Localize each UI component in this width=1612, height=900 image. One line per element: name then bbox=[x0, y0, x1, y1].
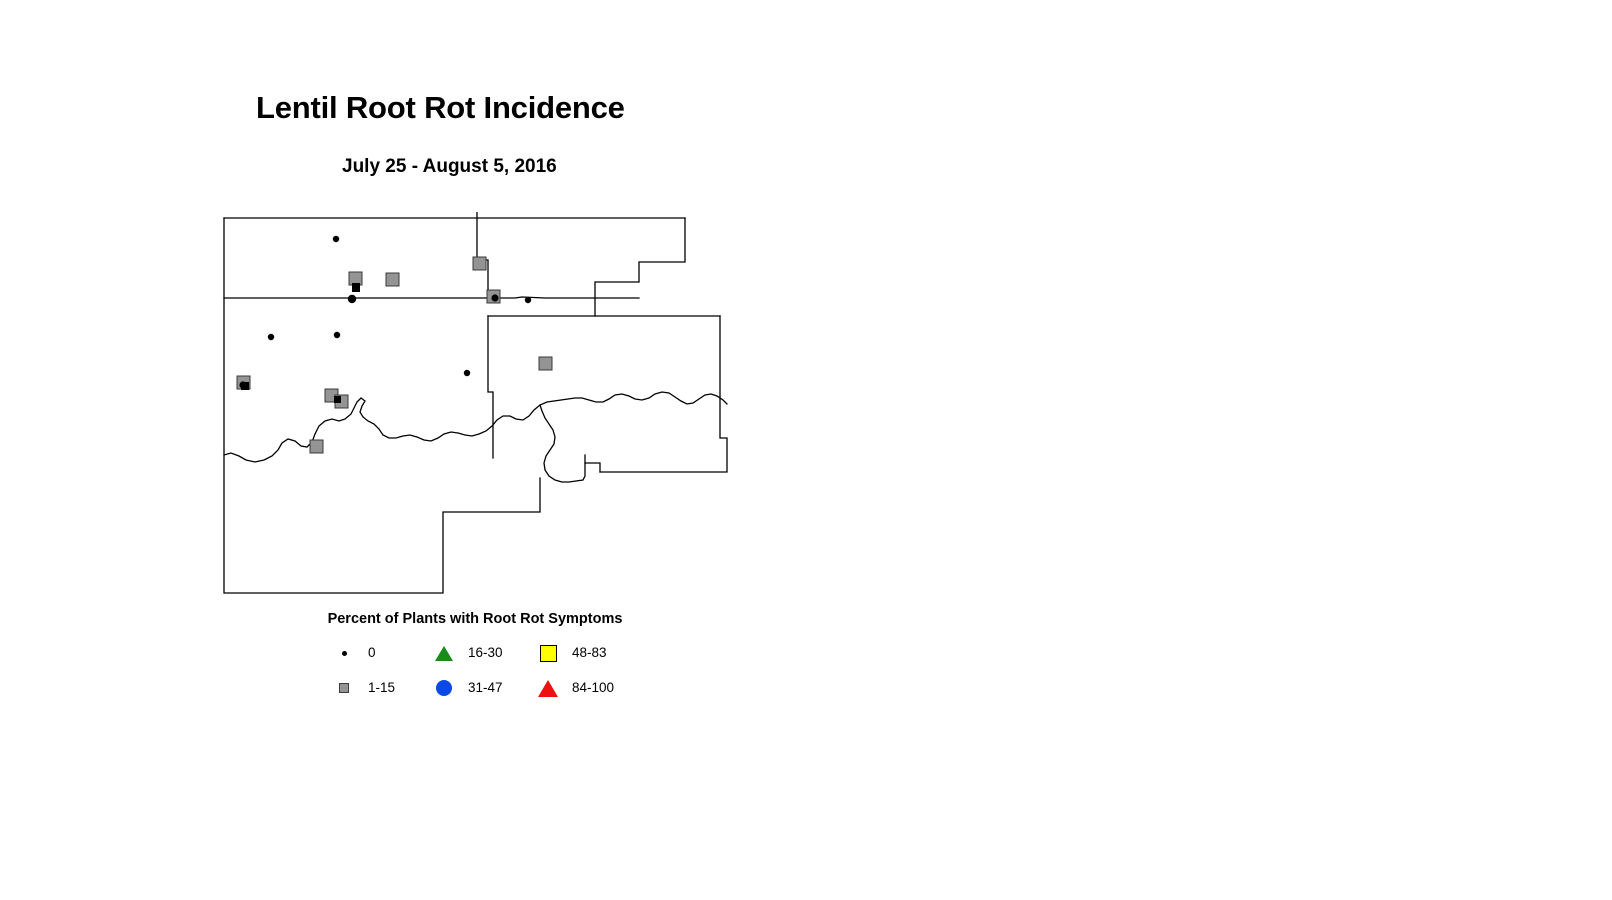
square-gray-icon bbox=[333, 677, 355, 699]
map-marker bbox=[268, 334, 274, 340]
map-marker bbox=[386, 273, 399, 286]
map-marker bbox=[539, 357, 552, 370]
dot-black-icon bbox=[333, 642, 355, 664]
map-marker bbox=[241, 382, 249, 390]
legend-item-label: 1-15 bbox=[368, 681, 395, 695]
marker-group-overlap bbox=[241, 283, 360, 403]
north-border bbox=[224, 212, 685, 218]
legend-item-0: 0 bbox=[333, 642, 376, 664]
square-yellow-icon bbox=[537, 642, 559, 664]
map-marker bbox=[334, 332, 340, 338]
legend-item-label: 16-30 bbox=[468, 646, 503, 660]
triangle-red-icon bbox=[537, 677, 559, 699]
map-marker bbox=[348, 295, 356, 303]
map-legend: Percent of Plants with Root Rot Symptoms… bbox=[215, 612, 735, 707]
map-canvas bbox=[215, 210, 735, 610]
legend-item-16-30: 16-30 bbox=[433, 642, 503, 664]
legend-title: Percent of Plants with Root Rot Symptoms bbox=[215, 612, 735, 627]
legend-item-label: 48-83 bbox=[572, 646, 607, 660]
map-marker bbox=[352, 283, 360, 292]
map-marker bbox=[473, 257, 486, 270]
data-markers bbox=[237, 236, 552, 453]
northeast-block-outline bbox=[595, 218, 685, 316]
county-line-vertical-east bbox=[488, 316, 493, 458]
map-marker bbox=[310, 440, 323, 453]
river-boundary-south bbox=[540, 405, 585, 482]
marker-group-gray-square bbox=[237, 257, 552, 453]
map-marker bbox=[334, 396, 341, 403]
county-line-upper bbox=[224, 297, 639, 298]
legend-item-48-83: 48-83 bbox=[537, 642, 607, 664]
triangle-green-icon bbox=[433, 642, 455, 664]
legend-item-84-100: 84-100 bbox=[537, 677, 614, 699]
river-boundary bbox=[224, 392, 727, 462]
circle-blue-icon bbox=[433, 677, 455, 699]
legend-item-label: 0 bbox=[368, 646, 376, 660]
map-subtitle: July 25 - August 5, 2016 bbox=[342, 157, 557, 176]
south-block-outline bbox=[585, 455, 600, 472]
legend-item-label: 31-47 bbox=[468, 681, 503, 695]
legend-item-31-47: 31-47 bbox=[433, 677, 503, 699]
map-figure: Lentil Root Rot Incidence July 25 - Augu… bbox=[0, 0, 1612, 900]
map-marker bbox=[525, 297, 531, 303]
map-marker bbox=[333, 236, 339, 242]
map-marker bbox=[464, 370, 470, 376]
legend-item-1-15: 1-15 bbox=[333, 677, 395, 699]
legend-item-label: 84-100 bbox=[572, 681, 614, 695]
map-marker bbox=[491, 294, 498, 301]
map-svg bbox=[215, 210, 735, 610]
page-title: Lentil Root Rot Incidence bbox=[256, 92, 625, 123]
